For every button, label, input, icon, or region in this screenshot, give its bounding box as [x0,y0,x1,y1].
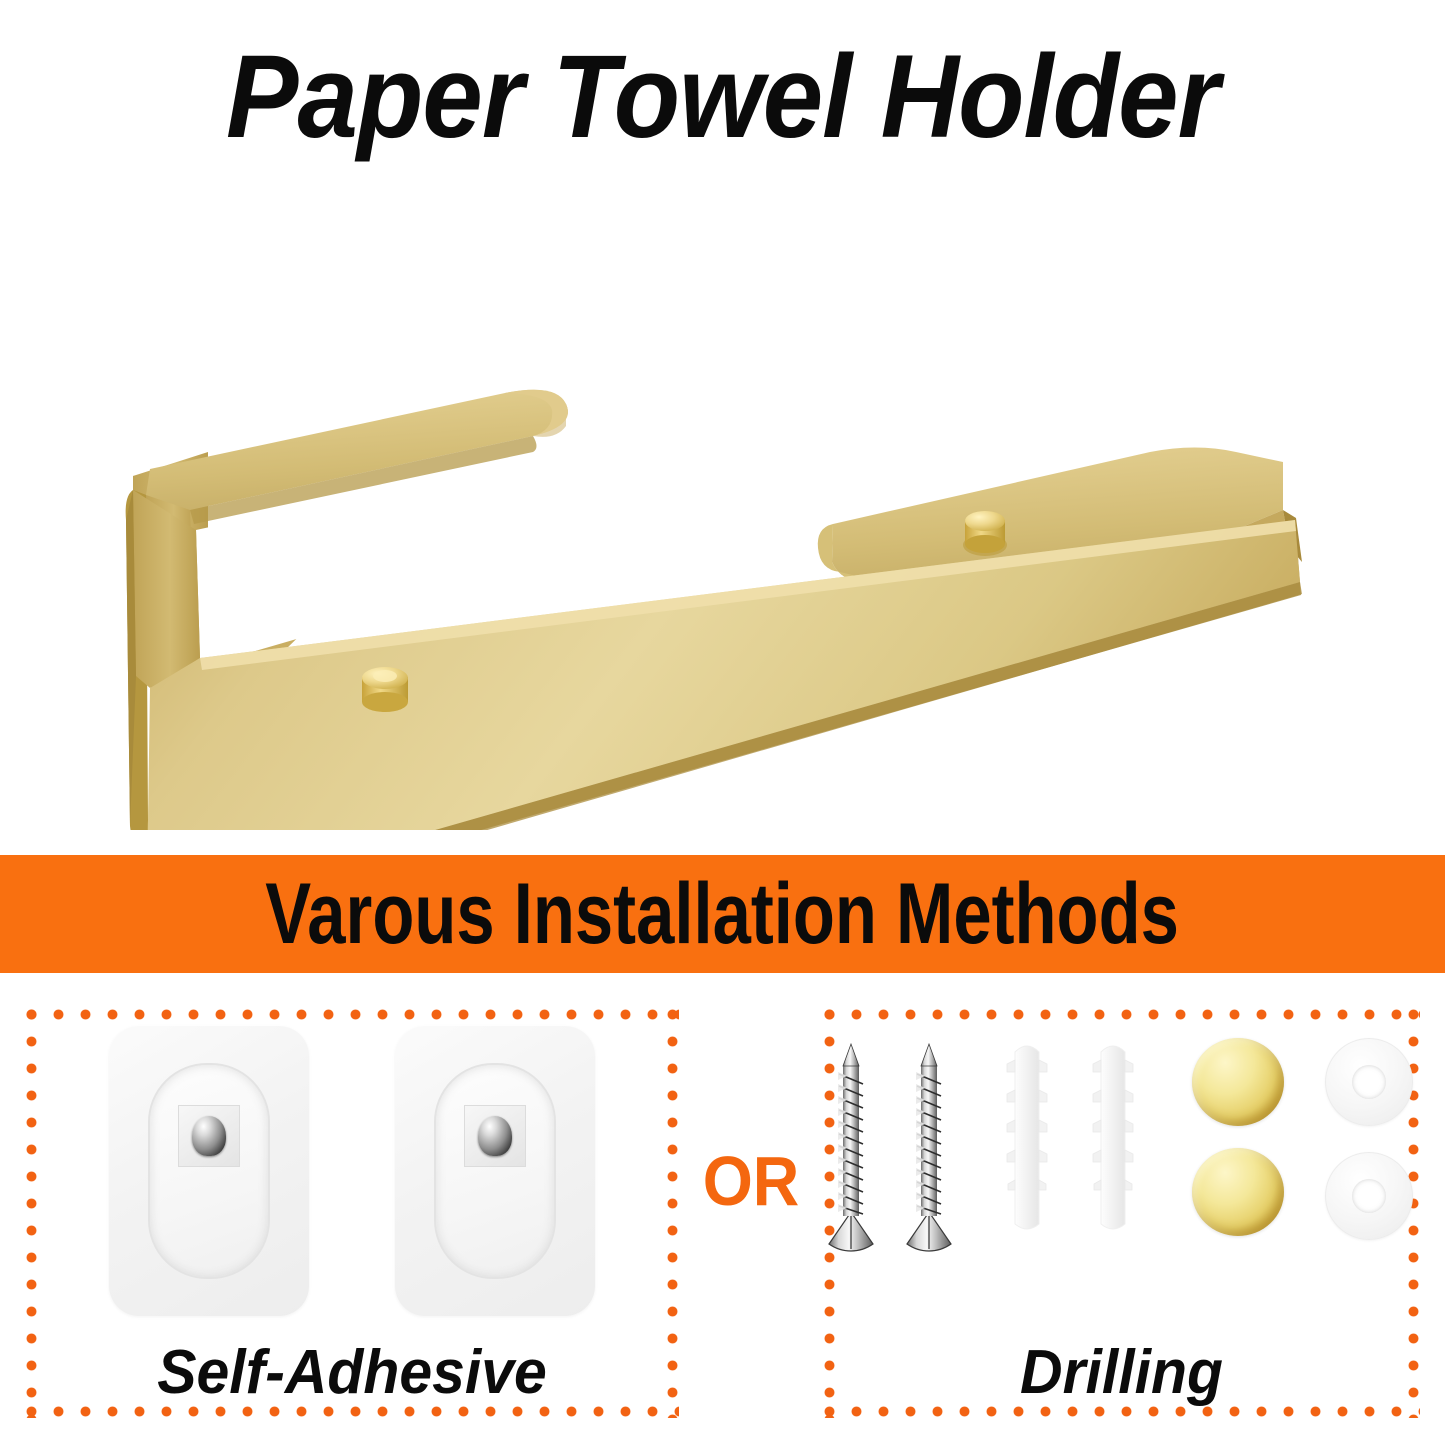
gold-cap-group [1187,1038,1290,1236]
mounting-knob-right [963,511,1007,556]
adhesive-pad-group [25,1026,679,1336]
banner-title: Varous Installation Methods [266,871,1180,957]
wall-anchor-group [995,1038,1145,1238]
page-title: Paper Towel Holder [58,38,1387,156]
adhesive-pad-post [464,1105,526,1167]
gold-cap-icon [1192,1038,1284,1126]
installation-banner: Varous Installation Methods [0,855,1445,973]
infographic-page: Paper Towel Holder [0,0,1445,1445]
screw-icon [901,1038,957,1253]
screw-group [823,1038,957,1253]
or-divider-label: OR [685,1146,817,1216]
wall-anchor-icon [1001,1038,1053,1238]
self-adhesive-label: Self-Adhesive [41,1342,662,1404]
dotted-border-top [823,1008,1420,1021]
washer-group [1317,1038,1420,1240]
product-image [0,190,1445,830]
mounting-knob-left-top [362,667,408,712]
adhesive-pad-inner [148,1063,270,1279]
drilling-hardware-group [823,1038,1420,1338]
adhesive-pad-inner [434,1063,556,1279]
adhesive-pad [395,1026,595,1316]
adhesive-pad-screw-icon [478,1116,512,1156]
self-adhesive-card: Self-Adhesive [25,1008,679,1418]
wall-anchor-icon [1087,1038,1139,1238]
dotted-border-top [25,1008,679,1021]
gold-cap-icon [1192,1148,1284,1236]
adhesive-pad-screw-icon [192,1116,226,1156]
adhesive-pad-post [178,1105,240,1167]
drilling-card: Drilling [823,1008,1420,1418]
installation-methods-panel: Self-Adhesive OR [0,973,1445,1445]
washer-icon [1325,1152,1413,1240]
drilling-label: Drilling [838,1342,1405,1404]
washer-icon [1325,1038,1413,1126]
adhesive-pad [109,1026,309,1316]
screw-icon [823,1038,879,1253]
towel-holder-illustration [0,190,1445,830]
